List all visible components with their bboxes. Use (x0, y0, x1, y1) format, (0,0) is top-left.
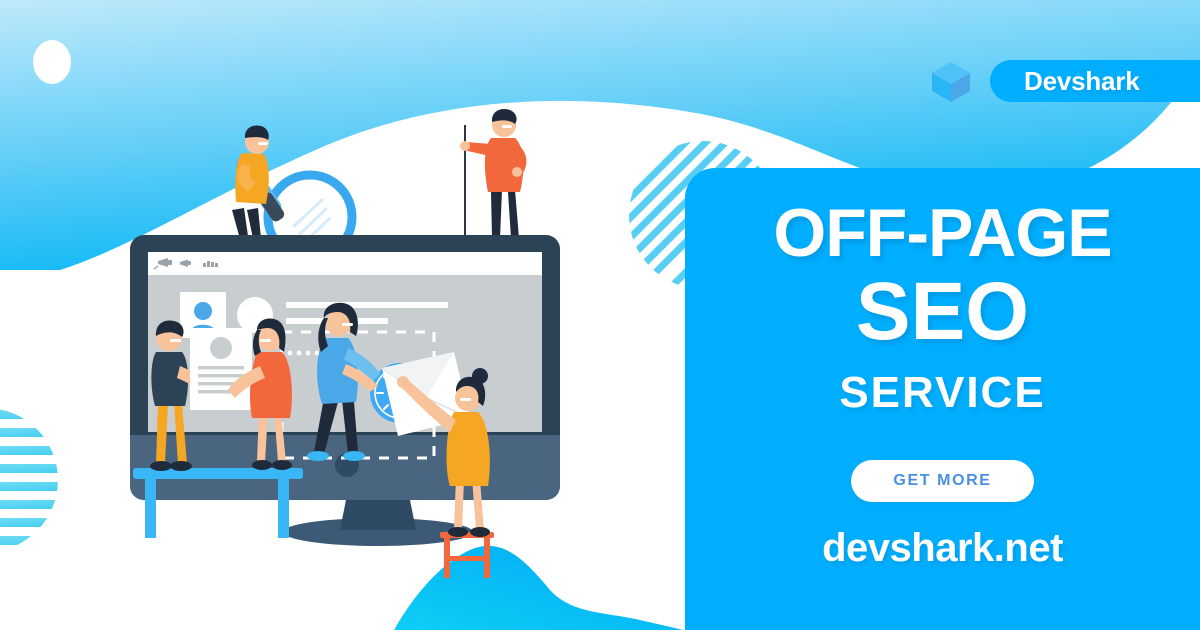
page-title-line-2: SEO (856, 270, 1029, 354)
white-circle-decoration (33, 40, 71, 84)
stool (440, 532, 494, 578)
website-url: devshark.net (822, 526, 1063, 571)
brand-name: Devshark (990, 60, 1200, 102)
striped-circle-left (0, 405, 60, 555)
page-title-line-1: OFF-PAGE (773, 196, 1111, 270)
seo-illustration (110, 80, 610, 600)
seo-service-banner: OFF-PAGE SEO SERVICE GET MORE devshark.n… (0, 0, 1200, 630)
document-sheet (190, 328, 252, 410)
get-more-button[interactable]: GET MORE (851, 460, 1033, 502)
content-panel: OFF-PAGE SEO SERVICE GET MORE devshark.n… (685, 168, 1200, 630)
cube-icon (928, 58, 974, 104)
brand-logo[interactable]: Devshark (928, 58, 1200, 104)
page-subtitle: SERVICE (839, 368, 1045, 418)
bench (133, 468, 303, 538)
